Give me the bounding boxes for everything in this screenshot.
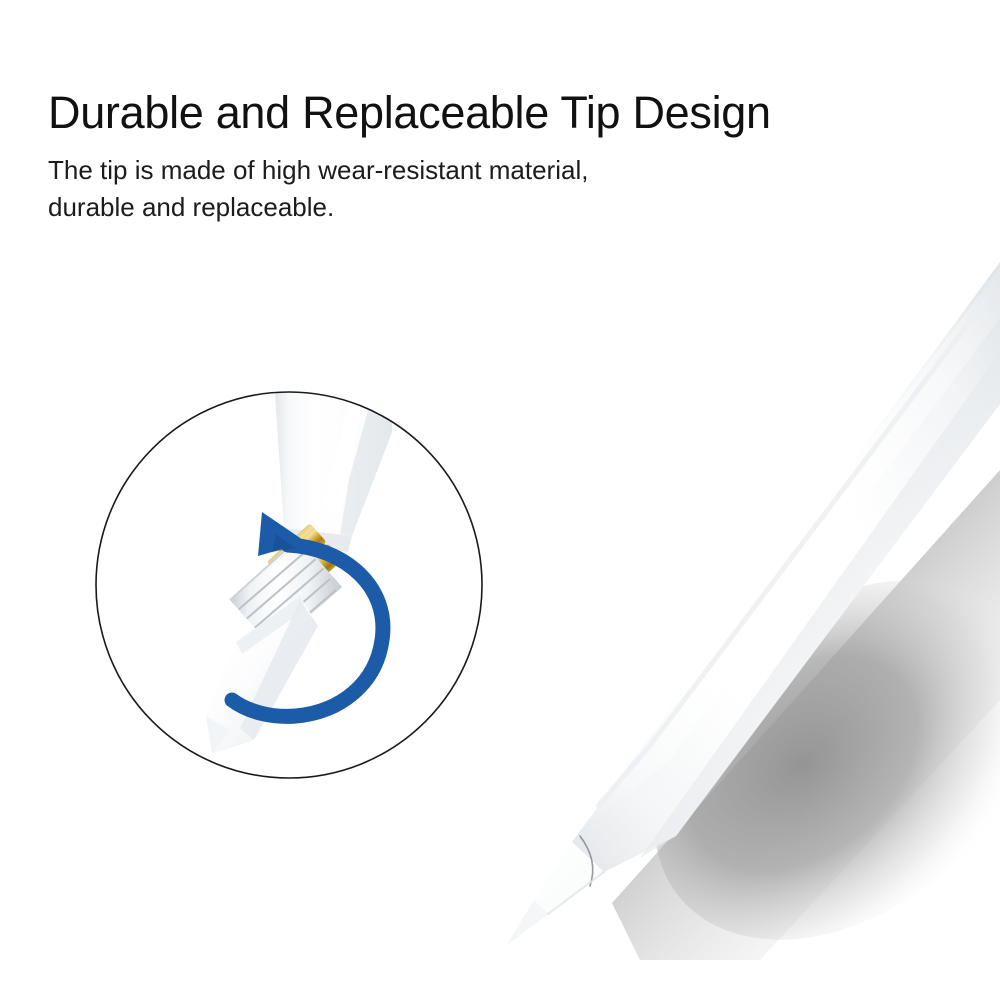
stylus-pen [506, 262, 1000, 1000]
tip-detail-callout [94, 380, 486, 782]
product-feature-slide: Durable and Replaceable Tip Design The t… [0, 0, 1000, 1000]
product-illustration [0, 0, 1000, 1000]
